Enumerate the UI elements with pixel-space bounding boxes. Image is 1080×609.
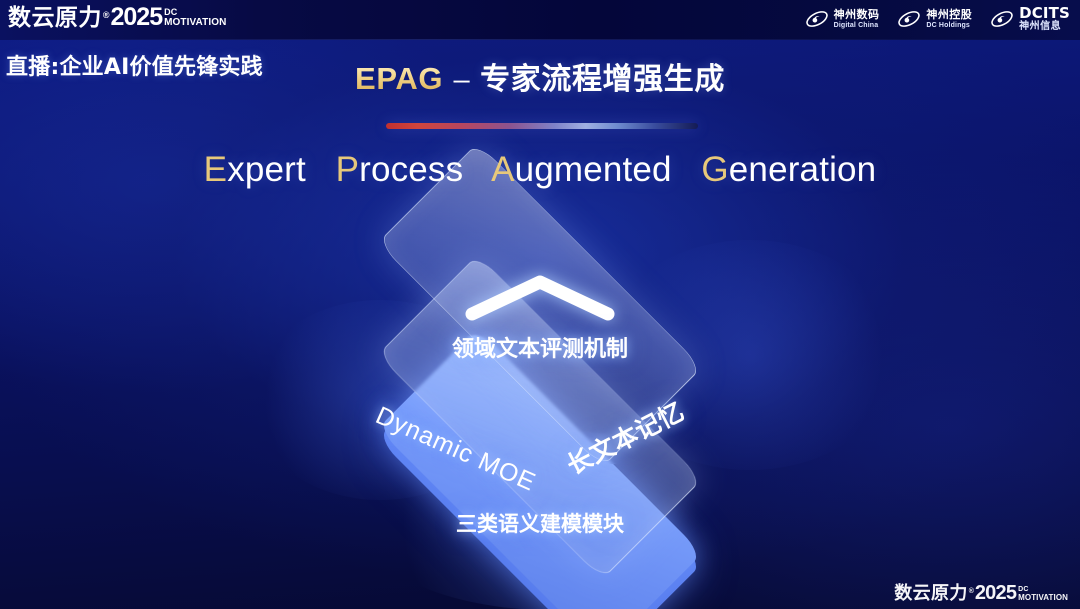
partner-logo-digital-china: 神州数码 Digital China xyxy=(805,7,880,31)
subtitle-cap-g: G xyxy=(701,150,728,189)
subtitle-cap-a: A xyxy=(491,150,515,189)
partner-logo-group: 神州数码 Digital China 神州控股 DC Holdings xyxy=(805,4,1070,34)
title-dash: – xyxy=(454,64,470,96)
brand-registered-mark: ® xyxy=(969,588,974,595)
brand-logo-top: 数云原力 ® 2025 DC MOTIVATION xyxy=(8,5,226,30)
partner-label-group: 神州控股 DC Holdings xyxy=(926,9,972,29)
swirl-icon xyxy=(990,7,1014,31)
partner-name-cn: 神州信息 xyxy=(1019,22,1070,32)
slide-canvas: 数云原力 ® 2025 DC MOTIVATION 直播:企业AI价值先锋实践 … xyxy=(0,0,1080,609)
chevron-up-icon xyxy=(462,272,618,322)
partner-name-en: Digital China xyxy=(834,22,880,29)
subtitle-space-1 xyxy=(316,150,326,189)
subtitle-space-3 xyxy=(682,150,692,189)
stack-label-bottom: 三类语义建模模块 xyxy=(0,508,1080,538)
brand-dc-motivation: DC MOTIVATION xyxy=(164,8,226,28)
subtitle-cap-e: E xyxy=(204,150,228,189)
subtitle-rest-generation: eneration xyxy=(729,150,877,189)
brand-dc-text: DC xyxy=(164,8,177,17)
brand-year: 2025 xyxy=(110,5,162,30)
partner-label-group: 神州数码 Digital China xyxy=(834,9,880,29)
subtitle-word-generation: Generation xyxy=(701,150,876,189)
brand-motivation-text: MOTIVATION xyxy=(164,17,226,28)
brand-motivation-text: MOTIVATION xyxy=(1018,593,1068,602)
subtitle-word-augmented: Augmented xyxy=(491,150,672,189)
brand-logo-watermark: 数云原力 ® 2025 DC MOTIVATION xyxy=(894,583,1068,603)
partner-name-en: DC Holdings xyxy=(926,22,972,29)
subtitle-word-process: Process xyxy=(336,150,464,189)
subtitle-word-expert: Expert xyxy=(204,150,306,189)
brand-registered-mark: ® xyxy=(103,11,110,20)
subtitle-rest-process: rocess xyxy=(359,150,463,189)
swirl-icon xyxy=(897,7,921,31)
title-chinese: 专家流程增强生成 xyxy=(480,62,725,97)
brand-dc-motivation: DC MOTIVATION xyxy=(1018,586,1068,602)
title-acronym: EPAG xyxy=(355,61,443,96)
live-broadcast-title: 直播:企业AI价值先锋实践 xyxy=(6,49,263,81)
stack-label-top: 领域文本评测机制 xyxy=(0,331,1080,363)
gradient-divider xyxy=(386,123,698,129)
subtitle-cap-p: P xyxy=(336,150,360,189)
partner-logo-dcits: DCITS 神州信息 xyxy=(990,6,1070,32)
partner-logo-dc-holdings: 神州控股 DC Holdings xyxy=(897,7,972,31)
partner-label-group: DCITS 神州信息 xyxy=(1019,6,1070,32)
brand-dc-text: DC xyxy=(1018,586,1028,593)
swirl-icon xyxy=(805,7,829,31)
partner-name-cn: 神州控股 xyxy=(926,9,972,20)
brand-chinese-name: 数云原力 xyxy=(8,7,102,30)
subtitle-english: Expert Process Augmented Generation xyxy=(0,150,1080,190)
partner-name-cn: 神州数码 xyxy=(834,9,880,20)
subtitle-space-2 xyxy=(473,150,483,189)
subtitle-rest-augmented: ugmented xyxy=(515,150,672,189)
subtitle-rest-expert: xpert xyxy=(227,150,306,189)
brand-year: 2025 xyxy=(975,583,1016,603)
partner-name-en: DCITS xyxy=(1019,6,1070,21)
brand-chinese-name: 数云原力 xyxy=(894,585,967,603)
